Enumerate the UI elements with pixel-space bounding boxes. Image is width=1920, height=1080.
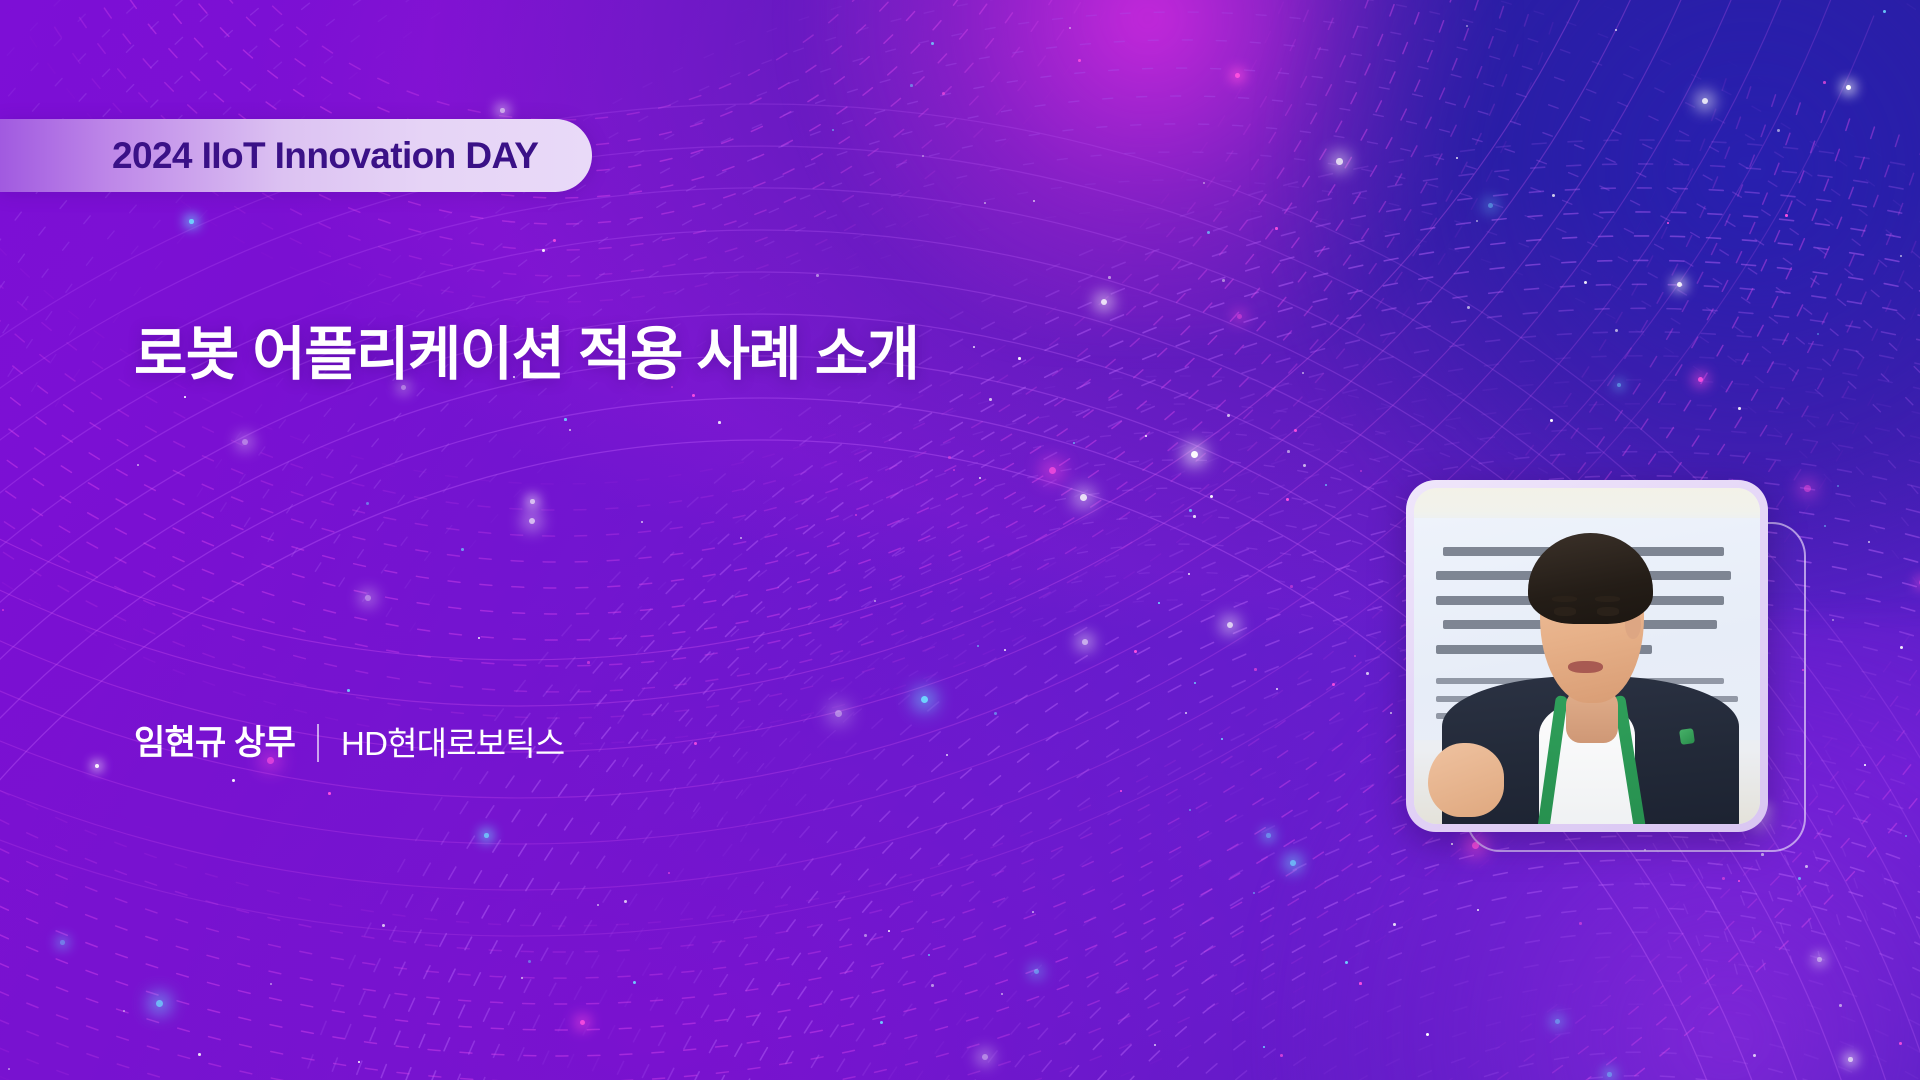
presentation-title-slide: 2024 IIoT Innovation DAY 로봇 어플리케이션 적용 사례…: [0, 0, 1920, 1080]
speaker-photo-block: [1406, 480, 1826, 880]
photo-hand: [1428, 743, 1504, 817]
photo-eye-right: [1597, 607, 1618, 616]
speaker-photo-frame: [1406, 480, 1768, 832]
event-badge: 2024 IIoT Innovation DAY: [0, 119, 592, 192]
speaker-name: 임현규 상무: [134, 723, 295, 764]
photo-eye-left: [1554, 607, 1575, 616]
photo-mouth: [1568, 661, 1603, 673]
photo-eyebrow-left: [1552, 596, 1577, 602]
event-badge-label: 2024 IIoT Innovation DAY: [112, 137, 538, 174]
speaker-photo: [1414, 488, 1760, 824]
session-title: 로봇 어플리케이션 적용 사례 소개: [134, 318, 919, 392]
speaker-credit: 임현규 상무 HD현대로보틱스: [134, 723, 564, 764]
photo-lapel-pin: [1679, 728, 1695, 745]
speaker-organization: HD현대로보틱스: [341, 724, 564, 764]
photo-eyebrow-right: [1595, 596, 1620, 602]
speaker-separator: [317, 724, 319, 762]
